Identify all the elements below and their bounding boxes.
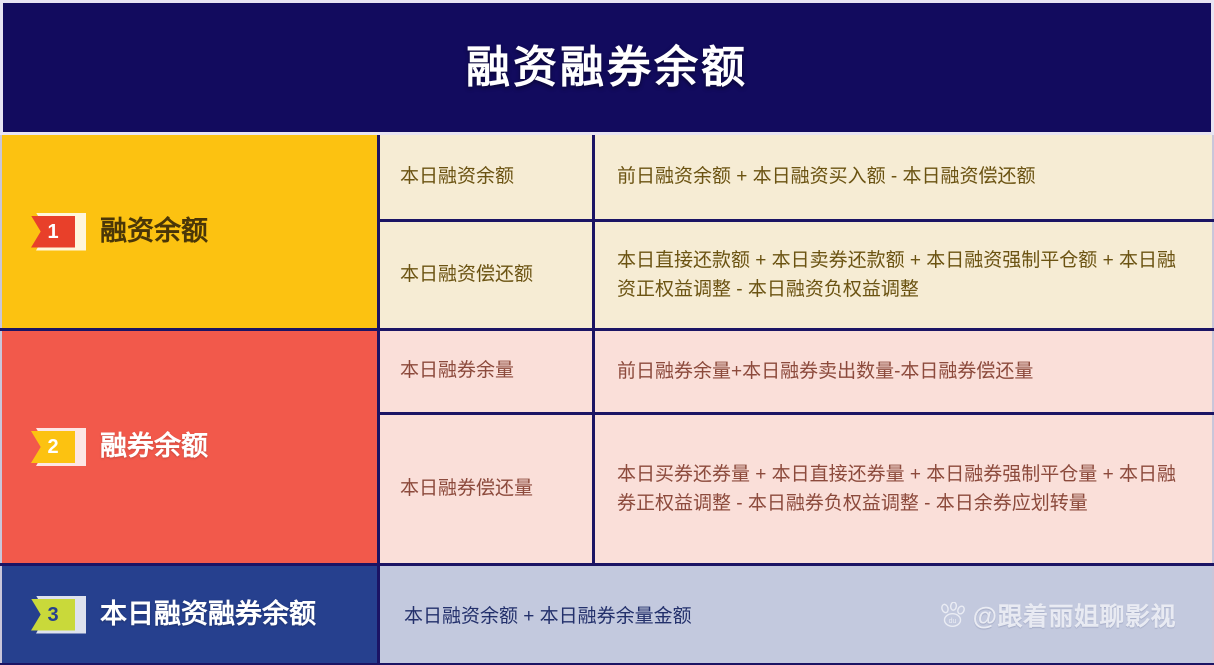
group-label-1: 融资余额 <box>100 217 208 247</box>
group-rows-2: 本日融券余量 前日融券余量+本日融券卖出数量-本日融券偿还量 本日融券偿还量 本… <box>380 331 1214 563</box>
group-label-cell-1: 1 融资余额 <box>0 135 380 328</box>
table-group-2: 2 融券余额 本日融券余量 前日融券余量+本日融券卖出数量-本日融券偿还量 本日… <box>0 331 1214 566</box>
number-badge-2: 2 <box>31 431 75 463</box>
formula-cell-total: 本日融资余额 + 本日融券余量金额 du @跟着丽姐聊影视 <box>380 566 1214 663</box>
group-label-cell-3: 3 本日融资融券余额 <box>0 566 380 663</box>
formula-table: 1 融资余额 本日融资余额 前日融资余额 + 本日融资买入额 - 本日融资偿还额… <box>0 135 1214 665</box>
group-label-cell-2: 2 融券余额 <box>0 331 380 563</box>
svg-text:du: du <box>948 618 956 625</box>
formula-cell: 前日融资余额 + 本日融资买入额 - 本日融资偿还额 <box>595 135 1214 219</box>
badge-wrapper-1: 1 <box>36 213 86 251</box>
table-group-3: 3 本日融资融券余额 本日融资余额 + 本日融券余量金额 du <box>0 566 1214 665</box>
watermark-text: @跟着丽姐聊影视 <box>973 597 1176 633</box>
title-banner: 融资融券余额 <box>0 0 1214 135</box>
page-title: 融资融券余额 <box>466 46 748 90</box>
table-row: 本日融资偿还额 本日直接还款额 + 本日卖券还款额 + 本日融资强制平仓额 + … <box>380 222 1214 328</box>
badge-wrapper-2: 2 <box>36 428 86 466</box>
term-cell: 本日融券偿还量 <box>380 415 595 563</box>
table-row: 本日融资余额 前日融资余额 + 本日融资买入额 - 本日融资偿还额 <box>380 135 1214 222</box>
group-rows-1: 本日融资余额 前日融资余额 + 本日融资买入额 - 本日融资偿还额 本日融资偿还… <box>380 135 1214 328</box>
group-label-3: 本日融资融券余额 <box>100 600 316 630</box>
formula-cell: 本日直接还款额 + 本日卖券还款额 + 本日融资强制平仓额 + 本日融资正权益调… <box>595 222 1214 328</box>
badge-wrapper-3: 3 <box>36 596 86 634</box>
number-badge-3: 3 <box>31 599 75 631</box>
term-cell: 本日融资偿还额 <box>380 222 595 328</box>
group-label-2: 融券余额 <box>100 432 208 462</box>
table-row: 本日融券余量 前日融券余量+本日融券卖出数量-本日融券偿还量 <box>380 331 1214 415</box>
formula-cell: 本日买券还券量 + 本日直接还券量 + 本日融券强制平仓量 + 本日融券正权益调… <box>595 415 1214 563</box>
watermark: du @跟着丽姐聊影视 <box>939 597 1176 633</box>
table-group-1: 1 融资余额 本日融资余额 前日融资余额 + 本日融资买入额 - 本日融资偿还额… <box>0 135 1214 331</box>
formula-cell: 前日融券余量+本日融券卖出数量-本日融券偿还量 <box>595 331 1214 412</box>
number-badge-1: 1 <box>31 216 75 248</box>
table-row: 本日融券偿还量 本日买券还券量 + 本日直接还券量 + 本日融券强制平仓量 + … <box>380 415 1214 563</box>
term-cell: 本日融券余量 <box>380 331 595 412</box>
formula-text-total: 本日融资余额 + 本日融券余量金额 <box>404 601 692 628</box>
baidu-paw-icon: du <box>939 602 967 628</box>
term-cell: 本日融资余额 <box>380 135 595 219</box>
infographic-root: 融资融券余额 1 融资余额 本日融资余额 前日融资余额 + 本日融资买入额 - … <box>0 0 1214 665</box>
